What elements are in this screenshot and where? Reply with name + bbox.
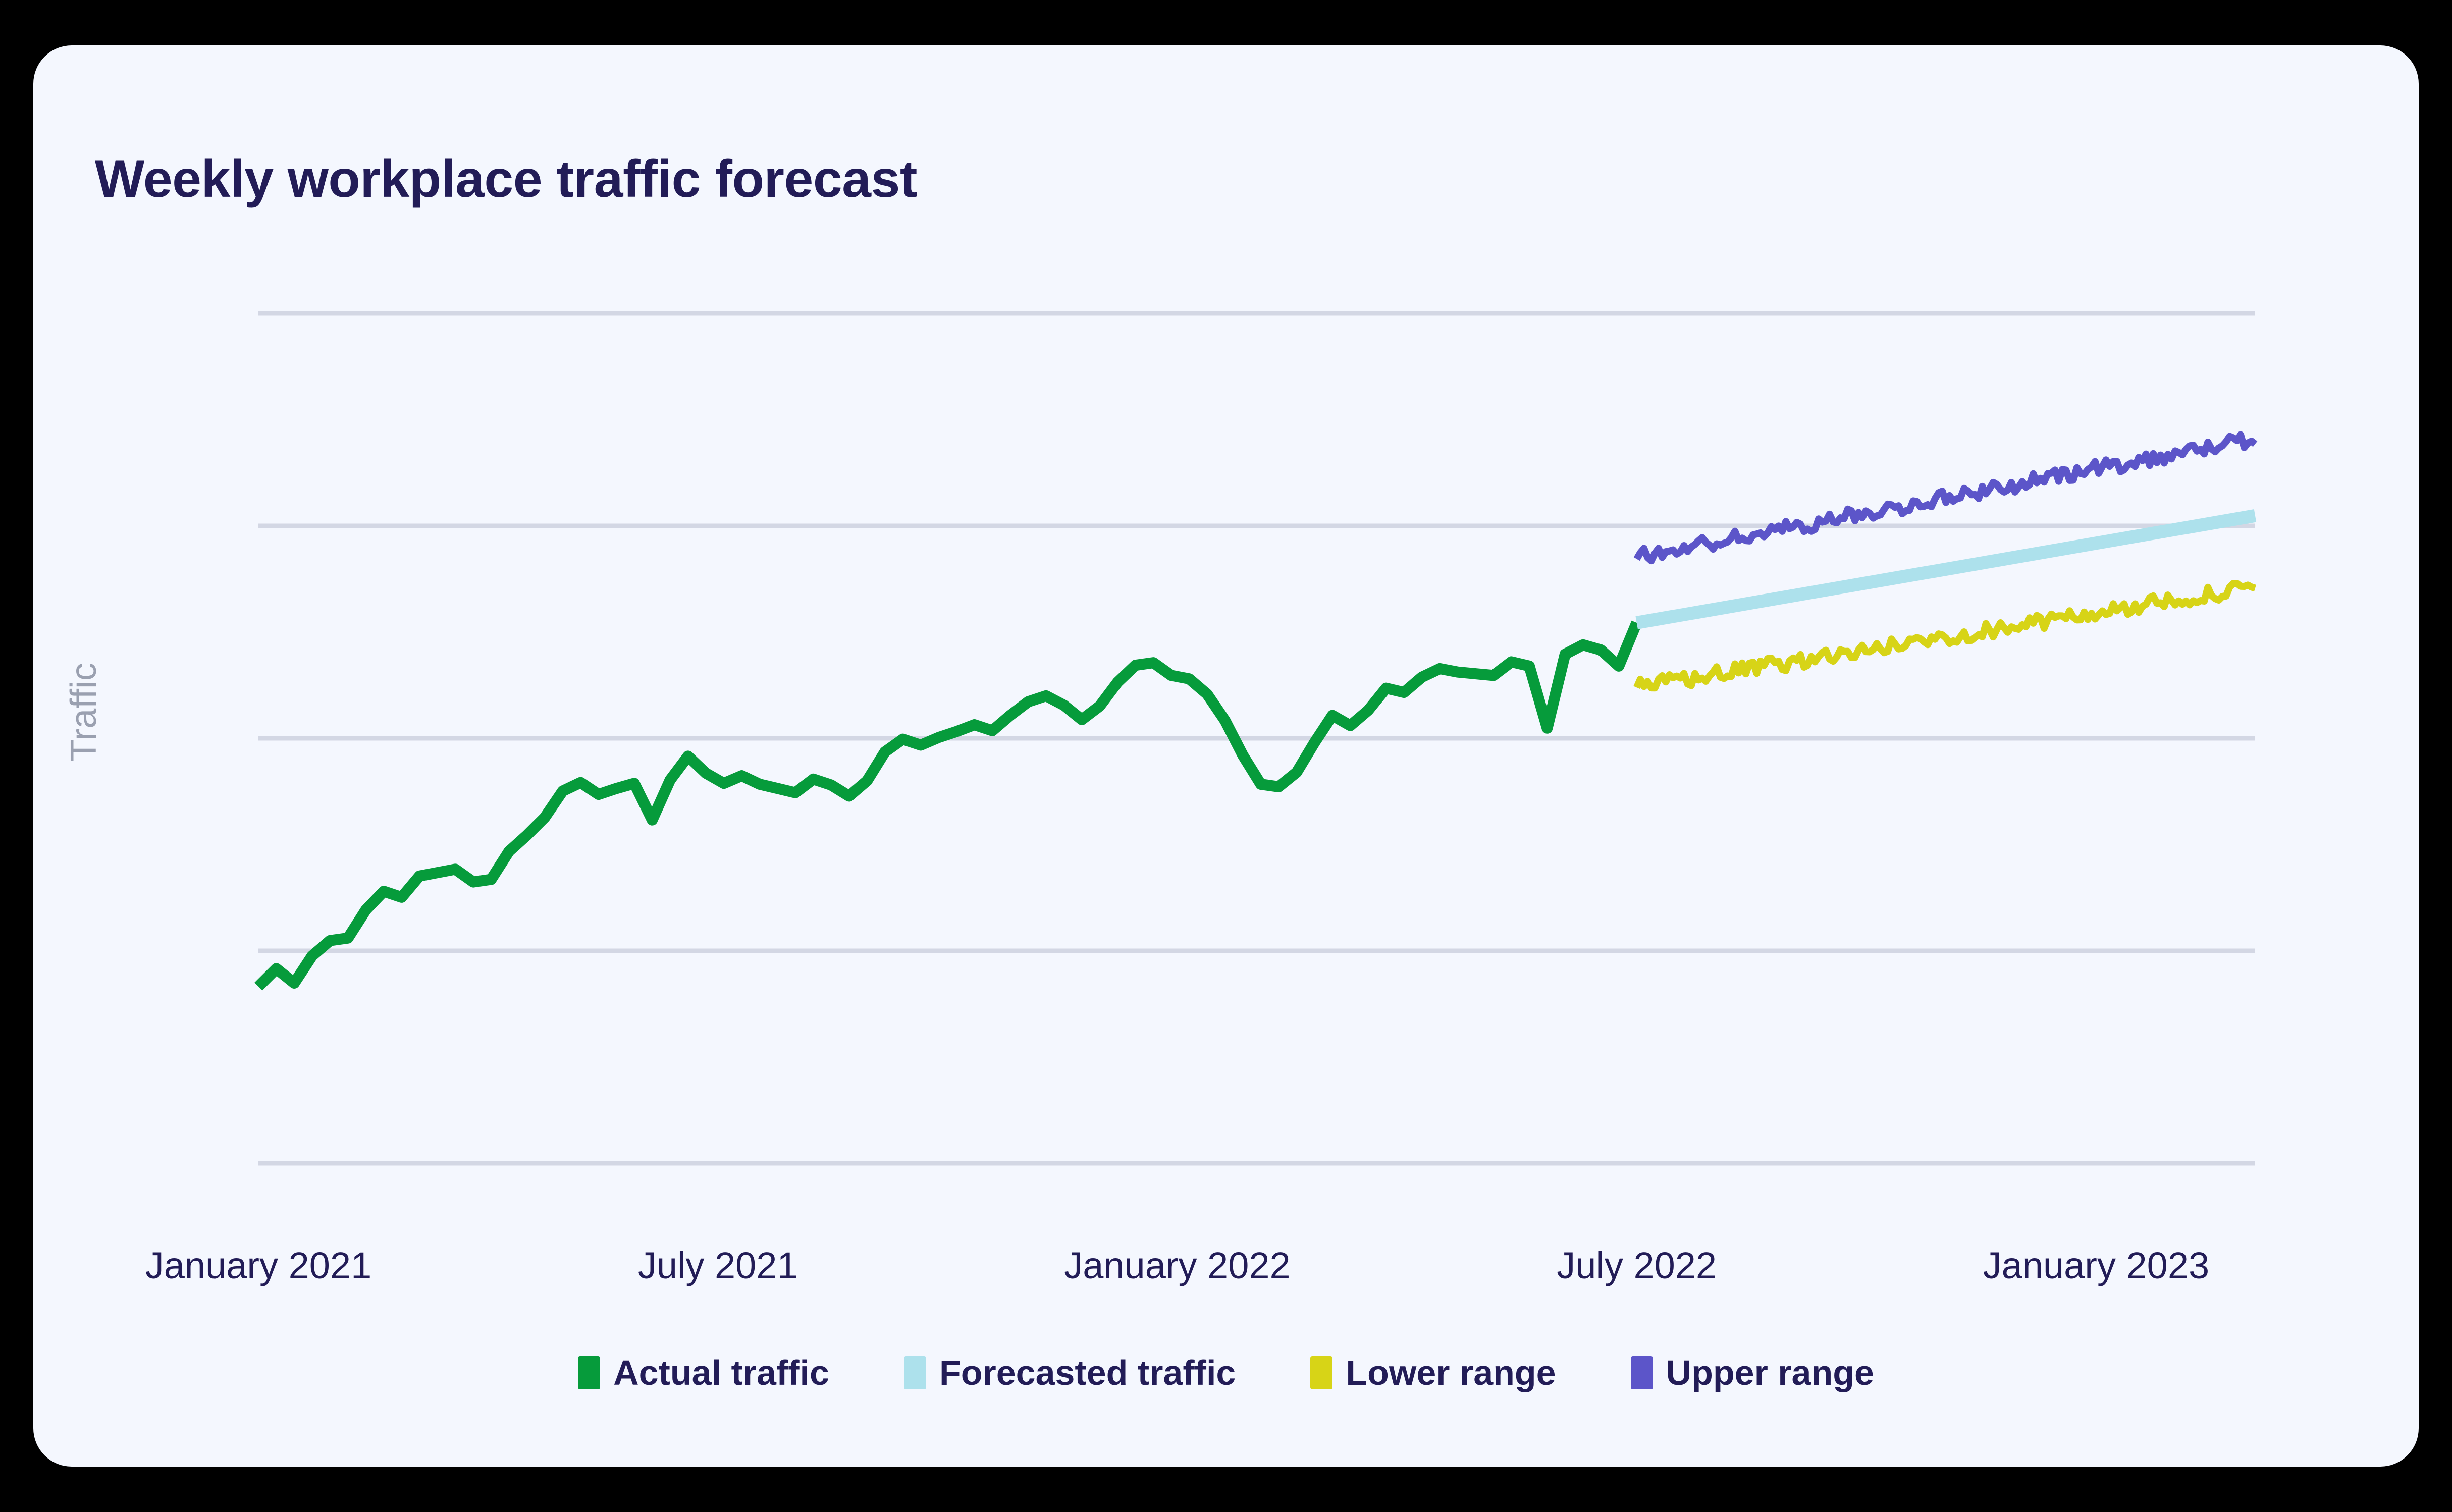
legend-swatch-icon bbox=[578, 1356, 600, 1389]
legend-swatch-icon bbox=[904, 1356, 926, 1389]
series-line-actual-traffic bbox=[258, 623, 1637, 987]
legend-swatch-icon bbox=[1310, 1356, 1332, 1389]
x-axis-tick-3: July 2022 bbox=[1557, 1244, 1717, 1287]
chart-card: Weekly workplace traffic forecast Traffi… bbox=[33, 45, 2419, 1467]
chart-series-lines bbox=[258, 435, 2255, 987]
y-axis-label: Traffic bbox=[63, 606, 104, 818]
legend-label: Actual traffic bbox=[613, 1355, 829, 1390]
legend-item-forecasted-traffic[interactable]: Forecasted traffic bbox=[904, 1355, 1236, 1390]
series-line-upper-range bbox=[1637, 435, 2255, 561]
x-axis-tick-2: January 2022 bbox=[1064, 1244, 1290, 1287]
x-axis-tick-0: January 2021 bbox=[145, 1244, 371, 1287]
legend-label: Lower range bbox=[1346, 1355, 1556, 1390]
legend-label: Upper range bbox=[1666, 1355, 1874, 1390]
chart-plot-area: Traffic January 2021July 2021January 202… bbox=[33, 45, 2419, 1467]
legend-label: Forecasted traffic bbox=[939, 1355, 1236, 1390]
x-axis-tick-4: January 2023 bbox=[1983, 1244, 2209, 1287]
legend-item-lower-range[interactable]: Lower range bbox=[1310, 1355, 1556, 1390]
page-root: Weekly workplace traffic forecast Traffi… bbox=[0, 0, 2452, 1512]
x-axis-tick-1: July 2021 bbox=[638, 1244, 798, 1287]
legend-item-upper-range[interactable]: Upper range bbox=[1631, 1355, 1874, 1390]
series-line-lower-range bbox=[1637, 583, 2255, 688]
legend-item-actual-traffic[interactable]: Actual traffic bbox=[578, 1355, 829, 1390]
chart-legend: Actual trafficForecasted trafficLower ra… bbox=[33, 1355, 2419, 1390]
chart-gridlines bbox=[258, 313, 2255, 1163]
legend-swatch-icon bbox=[1631, 1356, 1653, 1389]
